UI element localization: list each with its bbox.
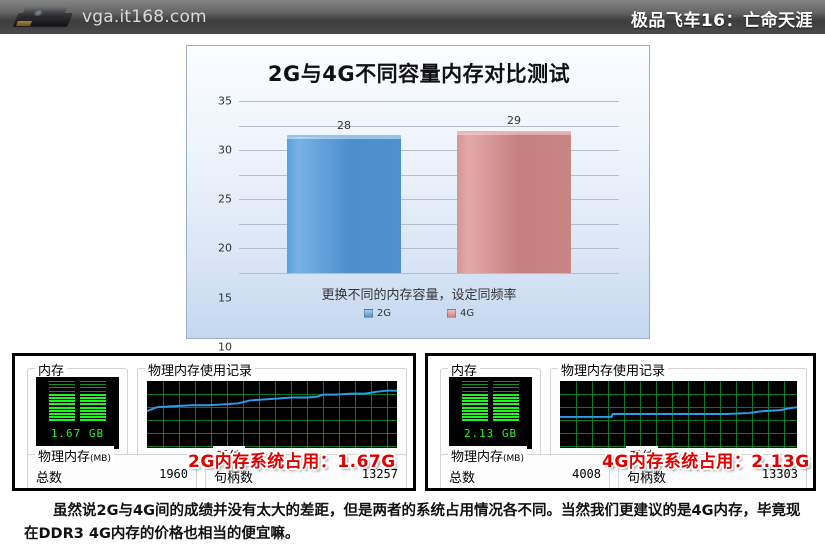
chart-legend: 2G 4G (187, 308, 651, 319)
memory-gauge-bar (49, 397, 75, 399)
memory-gauge-bar (80, 384, 106, 385)
bar-4g (457, 131, 571, 274)
memory-history-line-2g (147, 381, 397, 448)
legend-label-4g: 4G (460, 308, 474, 319)
legend-swatch-2g (364, 309, 373, 318)
legend-swatch-4g (447, 309, 456, 318)
memory-gauge-bar (493, 419, 519, 421)
memory-gauge-bar (49, 384, 75, 385)
chart-panel: 2G与4G不同容量内存对比测试 35302520151050 28 29 更换不… (186, 45, 650, 339)
physical-memory-label-4g: 物理内存(MB) (448, 446, 527, 465)
memory-gauge-bar (462, 397, 488, 399)
memory-value-4g: 2.13 GB (449, 427, 532, 440)
page-title: 极品飞车16：亡命天涯 (631, 6, 813, 31)
legend-label-2g: 2G (377, 308, 391, 319)
memory-gauge-bar (80, 403, 106, 405)
memory-gauge-bar (80, 381, 106, 382)
memory-gauge-bar (462, 387, 488, 388)
memory-gauge-column-right (493, 381, 519, 423)
memory-gauge-column-right (80, 381, 106, 423)
legend-item-4g: 4G (447, 308, 474, 319)
memory-value-2g: 1.67 GB (36, 427, 119, 440)
y-axis-tick: 30 (218, 144, 232, 157)
memory-gauge-bar (80, 419, 106, 421)
memory-gauge-bar (49, 407, 75, 409)
memory-gauge-bar (493, 381, 519, 382)
y-axis-tick: 25 (218, 193, 232, 206)
memory-gauge-bar (493, 407, 519, 409)
page-root: vga.it168.com 极品飞车16：亡命天涯 2G与4G不同容量内存对比测… (0, 0, 825, 550)
graphics-card-icon (14, 4, 72, 30)
physical-memory-total-value-4g: 4008 (572, 467, 601, 486)
memory-gauge-4g: 2.13 GB (449, 377, 532, 449)
bar-2g (287, 135, 401, 273)
memory-gauge-bar (493, 394, 519, 396)
memory-gauge-bar (80, 397, 106, 399)
memory-gauge-bar (462, 416, 488, 418)
memory-history-graph-2g (147, 381, 397, 448)
memory-group-2g: 内存 1.67 GB (27, 368, 128, 458)
gridline: 0 (239, 273, 619, 274)
memory-gauge-column-left (49, 381, 75, 423)
memory-gauge-bar (462, 381, 488, 382)
memory-gauge-bar (80, 410, 106, 412)
memory-gauge-bar (493, 391, 519, 392)
physical-memory-label-2g: 物理内存(MB) (35, 446, 114, 465)
memory-gauge-bar (493, 400, 519, 402)
physical-memory-group-2g: 物理内存(MB) 总数 1960 (27, 454, 197, 491)
memory-gauge-bar (462, 403, 488, 405)
memory-gauge-column-left (462, 381, 488, 423)
physical-memory-group-4g: 物理内存(MB) 总数 4008 (440, 454, 610, 491)
memory-gauge-bar (493, 384, 519, 385)
memory-gauge-bar (49, 391, 75, 392)
memory-gauge-bar (49, 419, 75, 421)
memory-history-group-2g: 物理内存使用记录 (137, 368, 407, 458)
memory-history-line-4g (560, 381, 797, 448)
memory-gauge-bar (80, 400, 106, 402)
memory-gauge-bar (49, 381, 75, 382)
chart-xaxis-label: 更换不同的内存容量，设定同频率 (187, 284, 651, 303)
physical-memory-total-row-4g: 总数 4008 (449, 467, 601, 486)
site-url: vga.it168.com (82, 7, 207, 27)
chart-plot-area: 35302520151050 28 29 (239, 101, 619, 273)
memory-gauge-bar (49, 403, 75, 405)
memory-gauge-bar (462, 410, 488, 412)
memory-gauge-bar (493, 403, 519, 405)
bar-label-2g: 28 (287, 119, 401, 132)
gridline: 35 (239, 101, 619, 102)
memory-gauge-bar (49, 394, 75, 396)
memory-gauge-bar (80, 391, 106, 392)
memory-gauge-bar (462, 407, 488, 409)
legend-item-2g: 2G (364, 308, 391, 319)
chart-title: 2G与4G不同容量内存对比测试 (187, 58, 651, 88)
physical-memory-total-label-2g: 总数 (36, 467, 62, 486)
memory-gauge-2g: 1.67 GB (36, 377, 119, 449)
memory-gauge-bar (49, 413, 75, 415)
overlay-annotation-4g: 4G内存系统占用：2.13G (602, 447, 810, 472)
memory-gauge-bar (80, 413, 106, 415)
memory-gauge-bar (493, 410, 519, 412)
memory-history-label-4g: 物理内存使用记录 (558, 360, 668, 379)
memory-gauge-bar (493, 387, 519, 388)
bar-label-4g: 29 (457, 114, 571, 127)
physical-memory-total-value-2g: 1960 (159, 467, 188, 486)
memory-gauge-bar (80, 416, 106, 418)
physical-memory-total-label-4g: 总数 (449, 467, 475, 486)
memory-gauge-bar (493, 397, 519, 399)
overlay-annotation-2g: 2G内存系统占用：1.67G (188, 447, 396, 472)
physical-memory-total-row-2g: 总数 1960 (36, 467, 188, 486)
memory-gauge-bar (49, 416, 75, 418)
y-axis-tick: 10 (218, 340, 232, 353)
memory-gauge-bar (462, 394, 488, 396)
memory-gauge-bar (80, 387, 106, 388)
memory-gauge-bar (462, 400, 488, 402)
memory-gauge-bar (49, 400, 75, 402)
memory-gauge-bar (49, 410, 75, 412)
memory-group-4g: 内存 2.13 GB (440, 368, 541, 458)
site-header: vga.it168.com 极品飞车16：亡命天涯 (0, 0, 825, 34)
memory-gauge-bar (462, 384, 488, 385)
y-axis-tick: 20 (218, 242, 232, 255)
memory-gauge-bar (493, 416, 519, 418)
memory-history-graph-4g (560, 381, 797, 448)
memory-gauge-bar (462, 419, 488, 421)
memory-gauge-bar (80, 394, 106, 396)
memory-gauge-bar (462, 391, 488, 392)
memory-gauge-bar (462, 413, 488, 415)
article-conclusion-text: 虽然说2G与4G间的成绩并没有太大的差距，但是两者的系统占用情况各不同。当然我们… (24, 500, 814, 546)
memory-gauge-bar (493, 413, 519, 415)
memory-history-group-4g: 物理内存使用记录 (550, 368, 807, 458)
memory-gauge-bar (80, 407, 106, 409)
memory-history-label-2g: 物理内存使用记录 (145, 360, 255, 379)
memory-gauge-bar (49, 387, 75, 388)
y-axis-tick: 35 (218, 95, 232, 108)
